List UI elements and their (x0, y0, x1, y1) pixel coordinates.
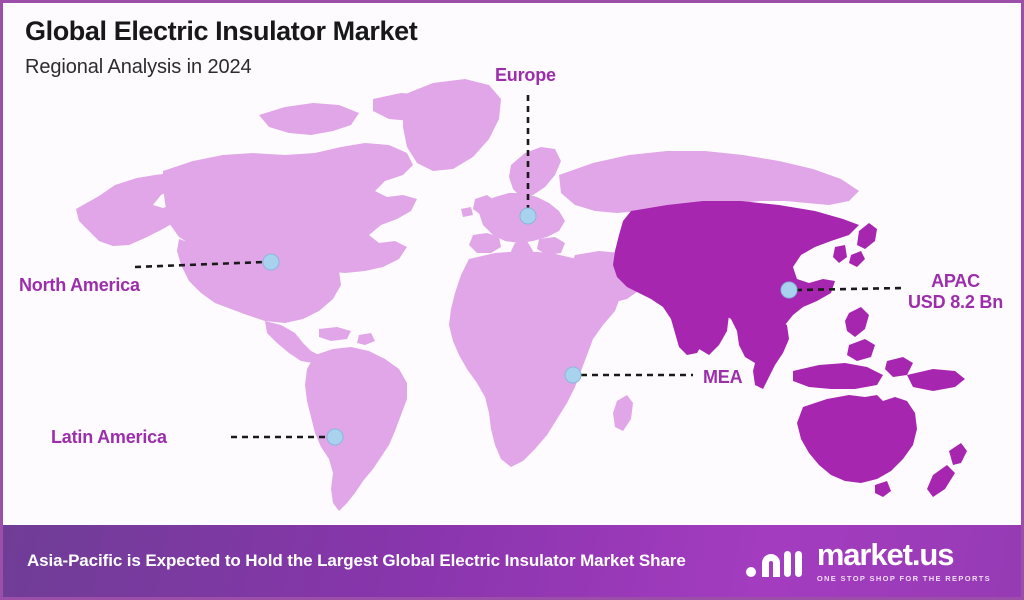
region-label-apac: APAC USD 8.2 Bn (908, 271, 1003, 313)
marker-apac[interactable] (781, 282, 798, 299)
region-label-mea: MEA (703, 367, 742, 388)
marker-latin-america[interactable] (327, 429, 344, 446)
brand-tagline: ONE STOP SHOP FOR THE REPORTS (817, 574, 991, 583)
footer-banner: Asia-Pacific is Expected to Hold the Lar… (3, 525, 1021, 597)
marker-europe[interactable] (520, 208, 537, 225)
region-name-apac: APAC (931, 271, 980, 291)
region-label-north-america: North America (19, 275, 140, 296)
marker-mea[interactable] (565, 367, 582, 384)
region-name-mea: MEA (703, 367, 742, 387)
page-title: Global Electric Insulator Market (25, 17, 417, 47)
region-value-apac: USD 8.2 Bn (908, 292, 1003, 313)
region-name-europe: Europe (495, 65, 556, 85)
infographic-card: Global Electric Insulator Market Regiona… (0, 0, 1024, 600)
region-label-latin-america: Latin America (51, 427, 167, 448)
region-name-latin-america: Latin America (51, 427, 167, 447)
brand-wordmark: market.us ONE STOP SHOP FOR THE REPORTS (817, 539, 991, 583)
market-us-logo-icon (745, 541, 807, 581)
brand-name: market.us (817, 539, 954, 570)
brand-logo[interactable]: market.us ONE STOP SHOP FOR THE REPORTS (745, 539, 1005, 583)
footer-headline: Asia-Pacific is Expected to Hold the Lar… (27, 549, 686, 573)
region-name-north-america: North America (19, 275, 140, 295)
region-label-europe: Europe (495, 65, 556, 86)
marker-north-america[interactable] (263, 254, 280, 271)
page-subtitle: Regional Analysis in 2024 (25, 56, 417, 79)
header: Global Electric Insulator Market Regiona… (25, 17, 417, 79)
